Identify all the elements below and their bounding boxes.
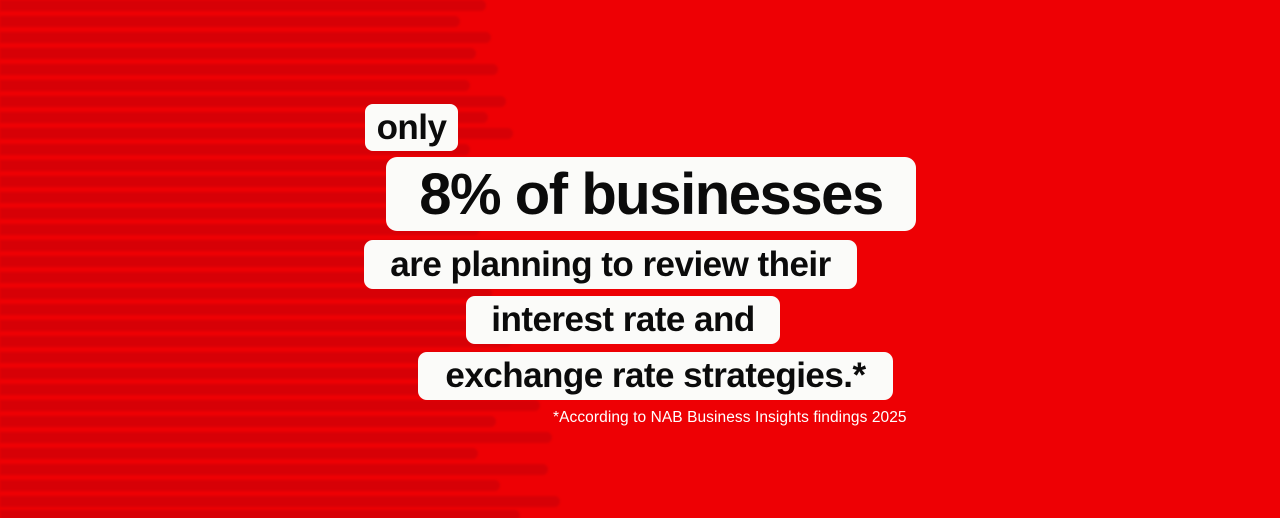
- footnote-source-attribution: *According to NAB Business Insights find…: [553, 409, 893, 427]
- headline-line-exchange-rate: exchange rate strategies.*: [418, 352, 893, 400]
- headline-line-interest-rate: interest rate and: [466, 296, 780, 344]
- headline-line-statistic: 8% of businesses: [386, 157, 916, 231]
- headline-block: only 8% of businesses are planning to re…: [0, 0, 1280, 518]
- promo-banner: only 8% of businesses are planning to re…: [0, 0, 1280, 518]
- headline-line-only: only: [365, 104, 458, 151]
- headline-line-planning: are planning to review their: [364, 240, 857, 289]
